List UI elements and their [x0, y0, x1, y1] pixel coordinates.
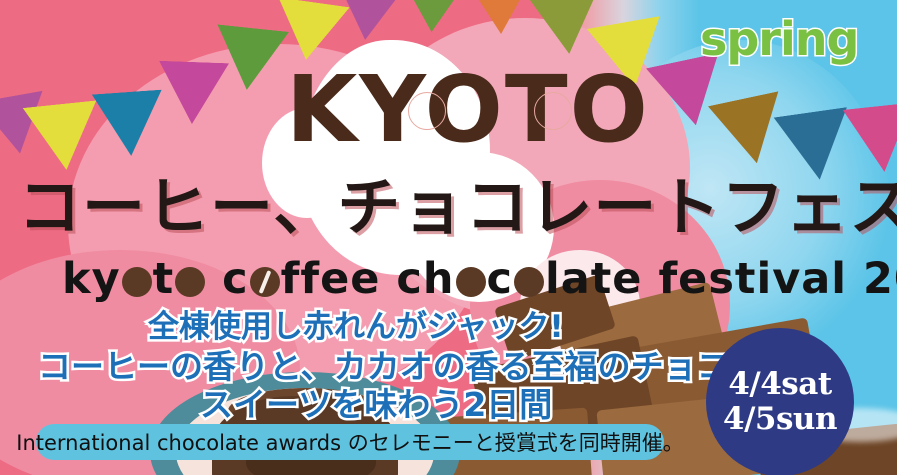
- awards-banner: International chocolate awards のセレモニーと授賞…: [36, 424, 664, 460]
- season-label: spring: [700, 16, 858, 62]
- event-date-badge: 4/4sat 4/5sun: [706, 328, 854, 475]
- brand-title: KYOTO: [286, 64, 650, 156]
- event-date-line-2: 4/5sun: [723, 402, 837, 437]
- english-headline-p4: ffee ch: [281, 254, 455, 304]
- english-headline: kyt cffee chclate festival 2026: [62, 258, 897, 301]
- english-headline-p5: c: [487, 254, 514, 304]
- coffee-bean-icon: [122, 267, 152, 297]
- awards-banner-text: International chocolate awards のセレモニーと授賞…: [16, 427, 683, 457]
- event-date-line-1: 4/4sat: [728, 367, 831, 402]
- english-headline-p6: late festival 2026: [545, 254, 897, 304]
- kyoto-o-ring-1: [408, 92, 446, 130]
- subtitle-line-1: 全棟使用し赤れんがジャック!: [148, 312, 564, 343]
- english-headline-p3: c: [206, 254, 248, 304]
- kyoto-o-ring-2: [534, 92, 572, 130]
- english-headline-p2: t: [153, 254, 175, 304]
- coffee-bean-icon: [175, 267, 205, 297]
- coffee-bean-icon: [250, 267, 280, 297]
- brand-title-text: KYOTO: [286, 56, 650, 163]
- subtitle-line-3: スイーツを味わう2日間: [200, 388, 552, 421]
- poster-canvas: spring KYOTO コーヒー、チョコレートフェスティバル kyt cffe…: [0, 0, 897, 475]
- season-label-text: spring: [700, 12, 858, 66]
- english-headline-p1: ky: [62, 254, 121, 304]
- coffee-bean-icon: [456, 267, 486, 297]
- coffee-bean-icon: [514, 267, 544, 297]
- japanese-headline: コーヒー、チョコレートフェスティバル: [18, 176, 888, 239]
